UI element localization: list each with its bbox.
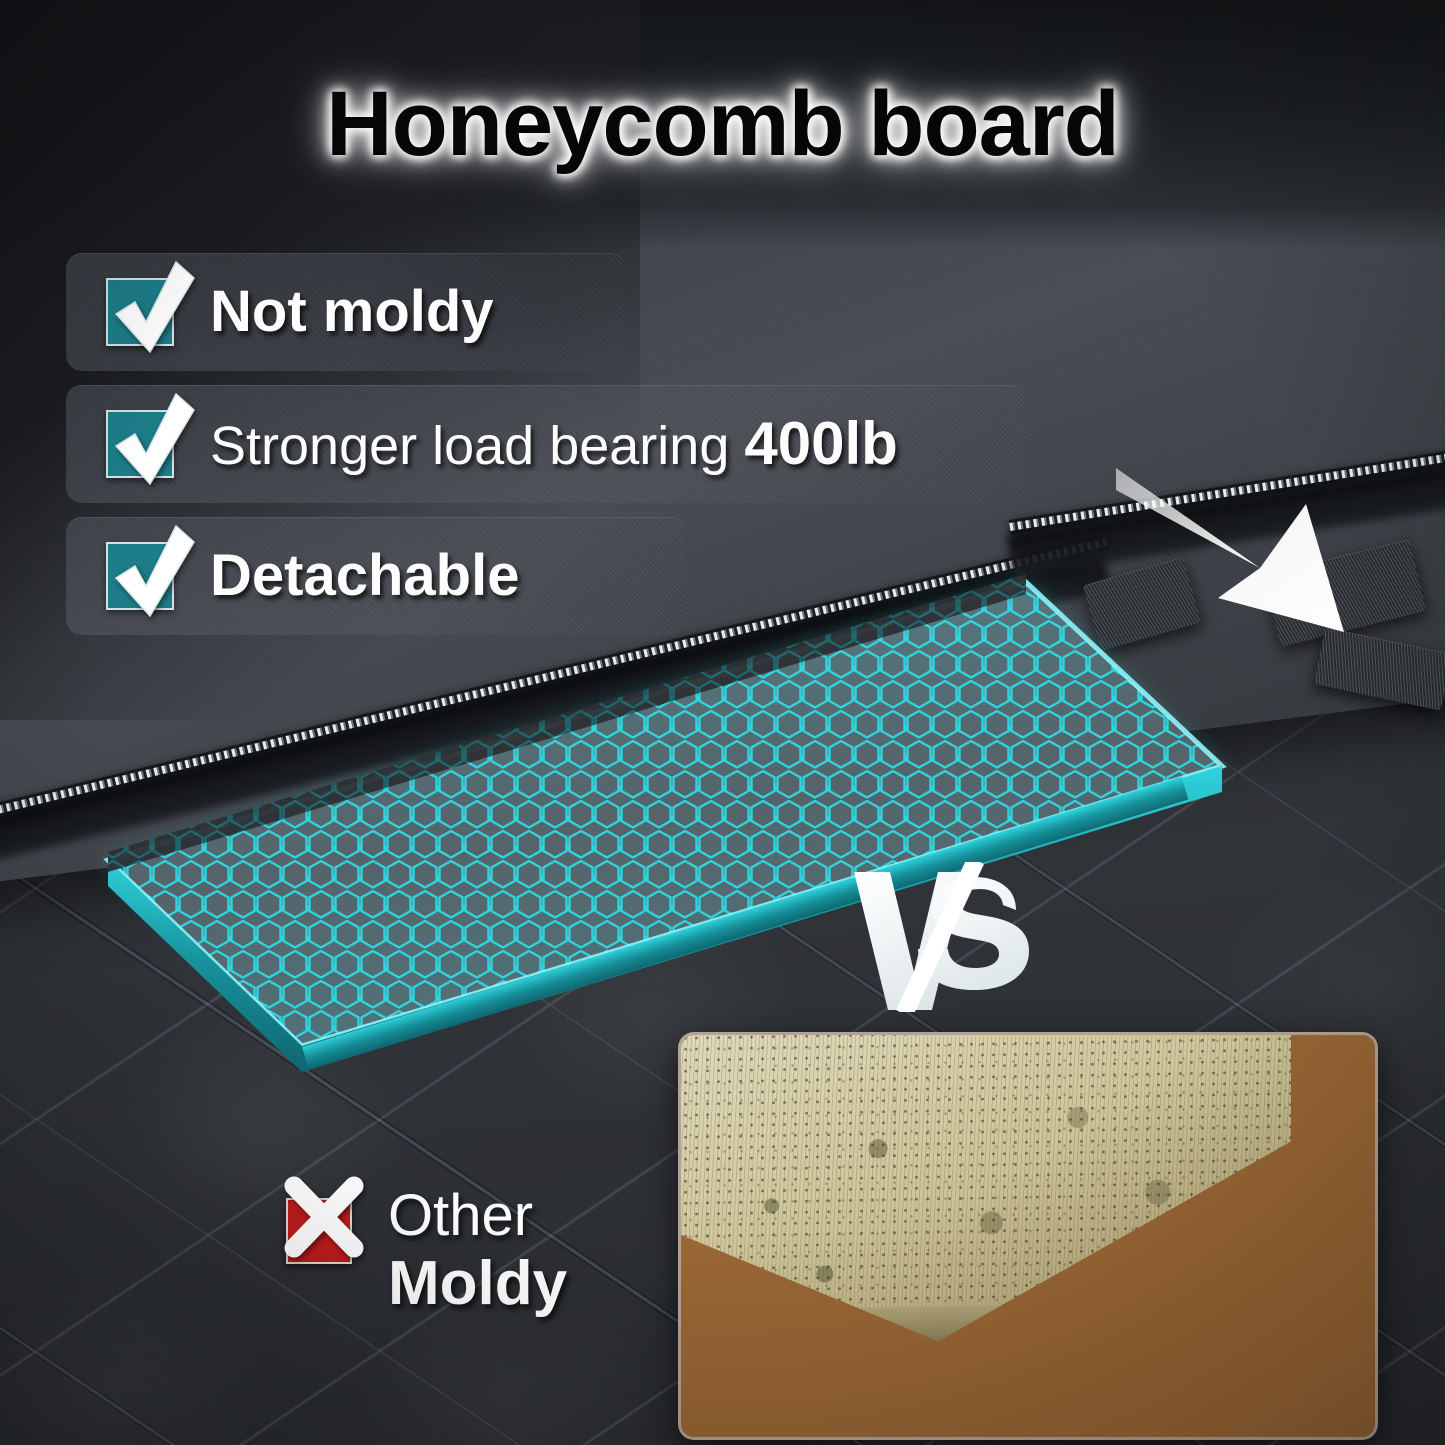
- feature-label-not-moldy: Not moldy: [210, 283, 494, 341]
- check-icon: [106, 542, 174, 610]
- feature-row-load-bearing[interactable]: Stronger load bearing 400lb: [66, 385, 1026, 503]
- negative-text: Other Moldy: [388, 1186, 567, 1316]
- feature-label-detachable: Detachable: [210, 547, 519, 605]
- negative-line-2: Moldy: [388, 1251, 567, 1316]
- down-right-arrow-icon: [1110, 420, 1370, 640]
- check-icon: [106, 278, 174, 346]
- feature-list: Not moldy Stronger load bearing 400lb De…: [66, 253, 1066, 649]
- page-title: Honeycomb board: [0, 72, 1445, 177]
- feature-row-not-moldy[interactable]: Not moldy: [66, 253, 626, 371]
- vs-badge: [848, 862, 1038, 1012]
- check-icon: [106, 410, 174, 478]
- feature-value-load: 400lb: [744, 410, 897, 477]
- feature-row-detachable[interactable]: Detachable: [66, 517, 686, 635]
- feature-label-load-bearing: Stronger load bearing 400lb: [210, 414, 898, 474]
- cross-icon: [286, 1198, 352, 1264]
- negative-comparison-label: Other Moldy: [286, 1186, 567, 1316]
- feature-label-text: Stronger load bearing: [210, 416, 744, 476]
- moldy-board-photo: [678, 1032, 1378, 1440]
- negative-line-1: Other: [388, 1186, 567, 1245]
- product-infographic: Honeycomb board Not moldy Stronger load …: [0, 0, 1445, 1445]
